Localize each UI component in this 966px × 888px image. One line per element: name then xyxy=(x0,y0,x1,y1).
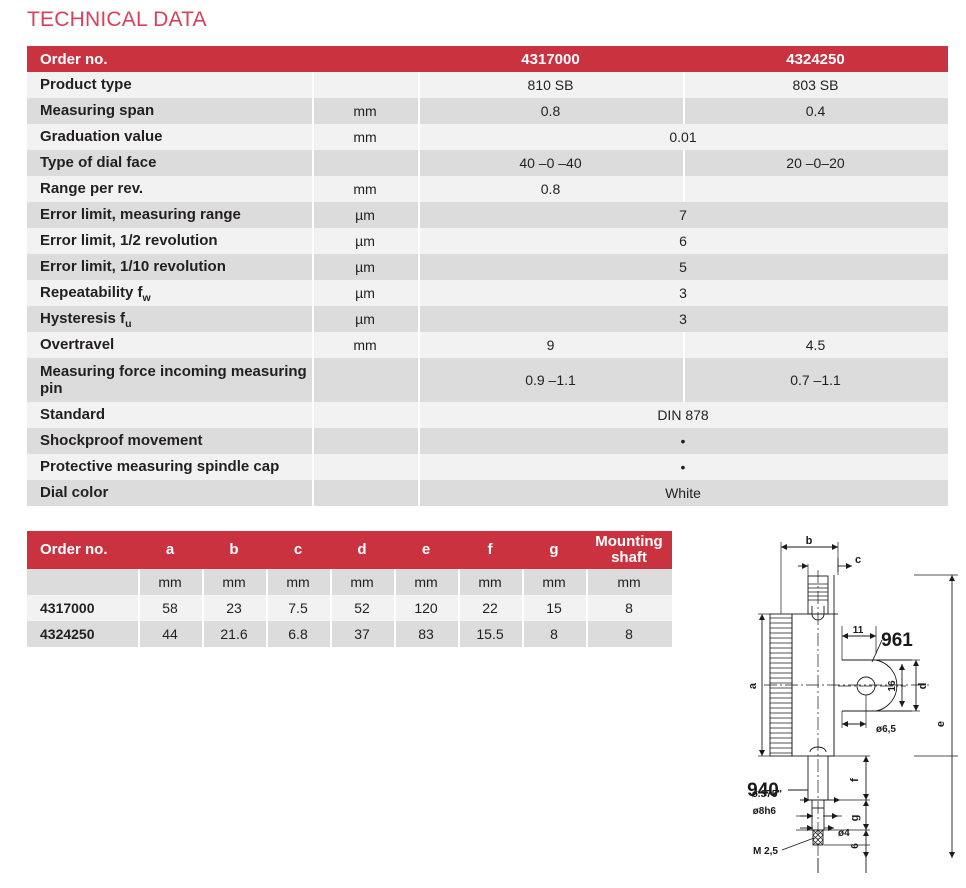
spec-row-value-combined: 6 xyxy=(418,228,948,254)
dimension-table: Order no.abcdefgMounting shaft mmmmmmmmm… xyxy=(27,531,672,647)
dimension-table-body: mmmmmmmmmmmmmmmm431700058237.55212022158… xyxy=(27,569,672,647)
dimension-row-value: 44 xyxy=(138,621,202,647)
dimension-row-value: 52 xyxy=(330,595,394,621)
drawing-label-g: g xyxy=(849,815,861,822)
spec-row-unit xyxy=(312,454,418,480)
dimension-unit-cell xyxy=(27,569,138,595)
spec-row-value-4317000: 40 –0 –40 xyxy=(418,150,683,176)
spec-row-unit: mm xyxy=(312,124,418,150)
spec-row-value-4324250 xyxy=(683,176,948,202)
mounting-lug-961 xyxy=(842,660,912,711)
spec-table-row: Type of dial face40 –0 –4020 –0–20 xyxy=(27,150,948,176)
spec-table-row: Measuring force incoming measuring pin0.… xyxy=(27,358,948,402)
drawing-dim-11: 11 xyxy=(853,625,864,636)
dimension-row-value: 15.5 xyxy=(458,621,522,647)
dimension-header-a: a xyxy=(138,531,202,569)
spec-table-row: Overtravelmm94.5 xyxy=(27,332,948,358)
dimension-row-value: 83 xyxy=(394,621,458,647)
dimension-header-row: Order no.abcdefgMounting shaft xyxy=(27,531,672,569)
spec-header-order-4317000: 4317000 xyxy=(418,46,683,72)
spec-row-unit xyxy=(312,358,418,402)
spec-header-unit xyxy=(312,46,418,72)
spec-row-value-combined: DIN 878 xyxy=(418,402,948,428)
spec-row-unit xyxy=(312,480,418,506)
drawing-label-c: c xyxy=(855,554,861,566)
spec-row-label: Product type xyxy=(27,72,312,98)
dimension-unit-cell: mm xyxy=(138,569,202,595)
spec-header-label: Order no. xyxy=(27,46,312,72)
dimension-header-b: b xyxy=(202,531,266,569)
spec-row-value-4324250: 20 –0–20 xyxy=(683,150,948,176)
spec-row-value-4324250: 0.7 –1.1 xyxy=(683,358,948,402)
spec-table-row: Measuring spanmm0.80.4 xyxy=(27,98,948,124)
spec-row-unit xyxy=(312,150,418,176)
drawing-dia-375: ø.375" xyxy=(752,789,783,800)
spec-row-label: Standard xyxy=(27,402,312,428)
spec-row-value-combined: 5 xyxy=(418,254,948,280)
spec-row-value-4317000: 0.9 –1.1 xyxy=(418,358,683,402)
dimension-row-value: 23 xyxy=(202,595,266,621)
spec-row-value-combined: 7 xyxy=(418,202,948,228)
dimension-row-value: 8 xyxy=(522,621,586,647)
spec-row-label: Measuring force incoming measuring pin xyxy=(27,358,312,402)
dimension-row-value: 6.8 xyxy=(266,621,330,647)
spec-table-row: Hysteresis fuµm3 xyxy=(27,306,948,332)
dimension-header-mounting-shaft: Mounting shaft xyxy=(586,531,672,569)
spec-row-label: Error limit, 1/2 revolution xyxy=(27,228,312,254)
spec-row-unit xyxy=(312,72,418,98)
spec-row-unit: mm xyxy=(312,176,418,202)
spec-table-row: Product type810 SB803 SB xyxy=(27,72,948,98)
spec-row-label: Protective measuring spindle cap xyxy=(27,454,312,480)
dimension-row-value: 8 xyxy=(586,595,672,621)
dimension-table-row: 43242504421.66.8378315.588 xyxy=(27,621,672,647)
spec-table-row: Error limit, 1/2 revolutionµm6 xyxy=(27,228,948,254)
page-title: TECHNICAL DATA xyxy=(27,8,207,32)
spec-row-unit: µm xyxy=(312,228,418,254)
drawing-label-d: d xyxy=(917,683,929,690)
spec-row-unit: mm xyxy=(312,332,418,358)
dimension-units-row: mmmmmmmmmmmmmmmm xyxy=(27,569,672,595)
spec-table-row: Range per rev.mm0.8 xyxy=(27,176,948,202)
spec-row-unit: µm xyxy=(312,254,418,280)
technical-data-table: Order no. 4317000 4324250 Product type81… xyxy=(27,46,948,506)
dimension-unit-cell: mm xyxy=(586,569,672,595)
spec-header-order-4324250: 4324250 xyxy=(683,46,948,72)
spec-row-label: Error limit, 1/10 revolution xyxy=(27,254,312,280)
dimension-unit-cell: mm xyxy=(394,569,458,595)
spec-table-row: Protective measuring spindle cap• xyxy=(27,454,948,480)
spec-row-value-4317000: 9 xyxy=(418,332,683,358)
drawing-label-a: a xyxy=(747,682,759,689)
dimension-row-value: 37 xyxy=(330,621,394,647)
extension-lines xyxy=(758,542,958,845)
dimension-unit-cell: mm xyxy=(458,569,522,595)
drawing-dia-8h6: ø8h6 xyxy=(753,806,777,817)
drawing-part-961: 961 xyxy=(881,630,913,651)
spec-header-row: Order no. 4317000 4324250 xyxy=(27,46,948,72)
spec-row-value-4317000: 0.8 xyxy=(418,98,683,124)
spec-row-label: Repeatability fw xyxy=(27,280,312,306)
spec-row-value-combined: • xyxy=(418,428,948,454)
drawing-label-e: e xyxy=(935,721,947,727)
spec-table-row: Shockproof movement• xyxy=(27,428,948,454)
spec-row-value-combined: 3 xyxy=(418,280,948,306)
spec-row-label: Hysteresis fu xyxy=(27,306,312,332)
dimension-row-value: 15 xyxy=(522,595,586,621)
dimension-unit-cell: mm xyxy=(202,569,266,595)
dimension-header-g: g xyxy=(522,531,586,569)
spec-row-value-combined: White xyxy=(418,480,948,506)
dimension-header-c: c xyxy=(266,531,330,569)
dimension-row-order-no: 4317000 xyxy=(27,595,138,621)
spec-row-value-4324250: 0.4 xyxy=(683,98,948,124)
spec-row-label: Type of dial face xyxy=(27,150,312,176)
spec-row-unit: mm xyxy=(312,98,418,124)
spec-row-value-4317000: 810 SB xyxy=(418,72,683,98)
spec-table-row: Error limit, 1/10 revolutionµm5 xyxy=(27,254,948,280)
spec-table-row: Error limit, measuring rangeµm7 xyxy=(27,202,948,228)
drawing-label-b: b xyxy=(806,535,813,547)
spec-row-value-4317000: 0.8 xyxy=(418,176,683,202)
dimension-unit-cell: mm xyxy=(522,569,586,595)
spec-row-label: Range per rev. xyxy=(27,176,312,202)
drawing-dia-6-5: ø6,5 xyxy=(876,724,896,735)
center-lines xyxy=(764,570,930,858)
dimension-row-value: 22 xyxy=(458,595,522,621)
spec-row-label: Graduation value xyxy=(27,124,312,150)
drawing-label-f: f xyxy=(849,778,861,782)
spec-row-label: Overtravel xyxy=(27,332,312,358)
dial-indicator-dimension-drawing: b c a d e 16 f g 6 11 961 940 ø6,5 ø.375… xyxy=(730,528,966,888)
dimension-row-value: 58 xyxy=(138,595,202,621)
spec-table-row: Graduation valuemm0.01 xyxy=(27,124,948,150)
spec-table-row: StandardDIN 878 xyxy=(27,402,948,428)
dimension-header-f: f xyxy=(458,531,522,569)
spec-row-unit: µm xyxy=(312,306,418,332)
dimension-arrows xyxy=(762,547,952,873)
dimension-table-head: Order no.abcdefgMounting shaft xyxy=(27,531,672,569)
dimension-unit-cell: mm xyxy=(266,569,330,595)
dimension-table-row: 431700058237.55212022158 xyxy=(27,595,672,621)
drawing-dim-6: 6 xyxy=(850,843,861,849)
spec-row-value-combined: 0.01 xyxy=(418,124,948,150)
drawing-dia-4: ø4 xyxy=(838,828,850,839)
spec-row-unit: µm xyxy=(312,280,418,306)
spec-row-label: Error limit, measuring range xyxy=(27,202,312,228)
spec-row-unit: µm xyxy=(312,202,418,228)
dimension-row-order-no: 4324250 xyxy=(27,621,138,647)
dimension-header-d: d xyxy=(330,531,394,569)
dimension-row-value: 120 xyxy=(394,595,458,621)
dimension-unit-cell: mm xyxy=(330,569,394,595)
spec-row-label: Dial color xyxy=(27,480,312,506)
spec-row-value-4324250: 4.5 xyxy=(683,332,948,358)
dimension-row-value: 8 xyxy=(586,621,672,647)
spec-row-unit xyxy=(312,402,418,428)
spec-table-row: Repeatability fwµm3 xyxy=(27,280,948,306)
dimension-row-value: 7.5 xyxy=(266,595,330,621)
dimension-header-e: e xyxy=(394,531,458,569)
spec-row-label: Measuring span xyxy=(27,98,312,124)
spec-row-value-combined: 3 xyxy=(418,306,948,332)
dimension-header-order-no: Order no. xyxy=(27,531,138,569)
spec-row-value-combined: • xyxy=(418,454,948,480)
spec-table-head: Order no. 4317000 4324250 xyxy=(27,46,948,72)
drawing-thread-m25: M 2,5 xyxy=(753,846,778,857)
spec-row-value-4324250: 803 SB xyxy=(683,72,948,98)
spec-row-unit xyxy=(312,428,418,454)
spec-table-row: Dial colorWhite xyxy=(27,480,948,506)
spec-row-label: Shockproof movement xyxy=(27,428,312,454)
dimension-row-value: 21.6 xyxy=(202,621,266,647)
drawing-dim-16: 16 xyxy=(887,680,898,692)
spec-table-body: Product type810 SB803 SBMeasuring spanmm… xyxy=(27,72,948,506)
